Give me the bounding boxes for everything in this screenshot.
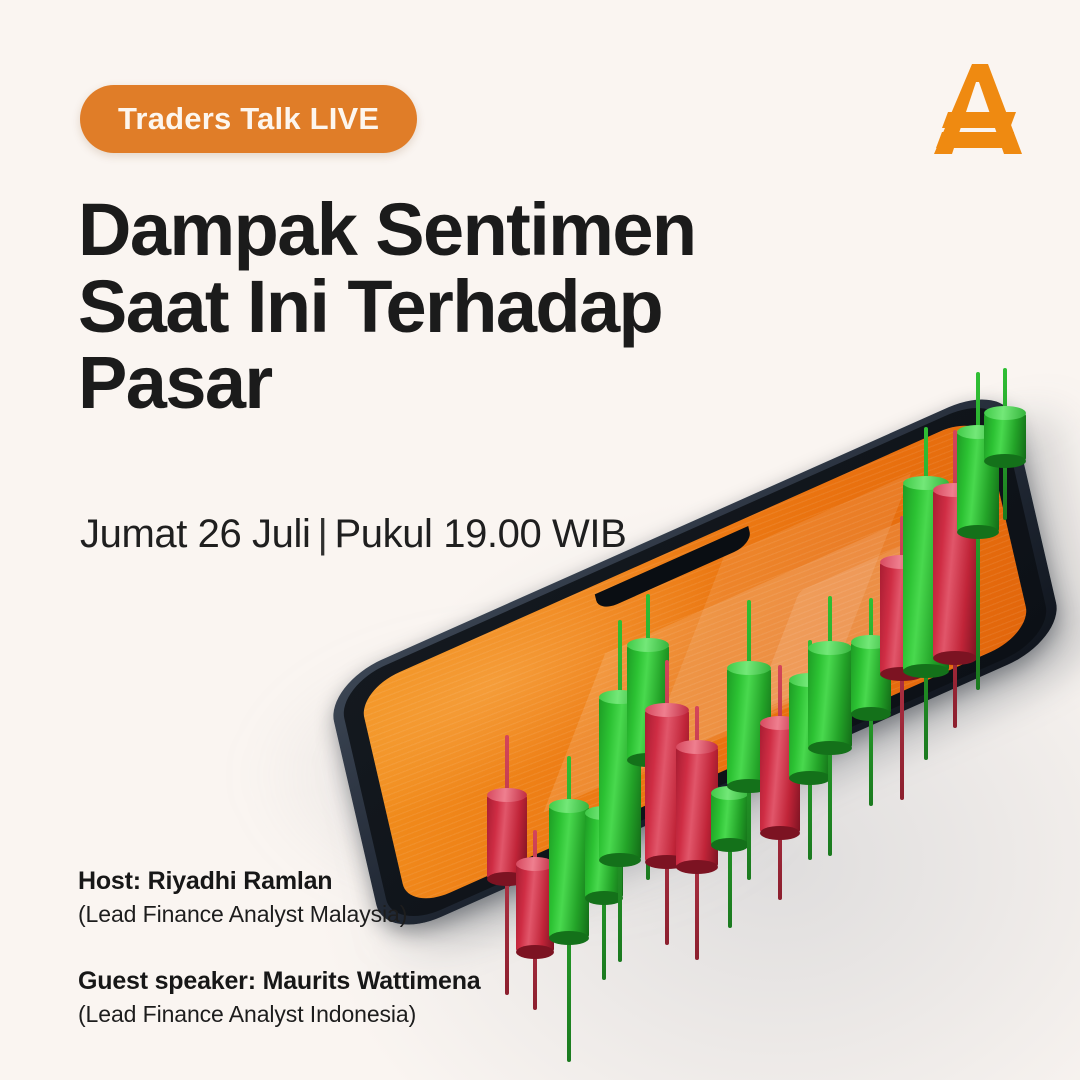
event-time: Pukul 19.00 WIB — [334, 512, 626, 556]
headline-line-1: Dampak Sentimen — [78, 192, 798, 269]
speaker-host-name: Host: Riyadhi Ramlan — [78, 866, 598, 897]
phone-body — [325, 382, 1064, 942]
event-datetime: Jumat 26 Juli|Pukul 19.00 WIB — [80, 512, 626, 557]
poster-canvas: Traders Talk LIVE Dampak Sentimen Saat I… — [0, 0, 1080, 1080]
headline-line-3: Pasar — [78, 345, 798, 422]
speakers-block: Host: Riyadhi Ramlan (Lead Finance Analy… — [78, 866, 598, 1029]
phone-bezel — [337, 393, 1053, 931]
live-badge-label: Traders Talk LIVE — [118, 101, 379, 137]
speaker-host-role: (Lead Finance Analyst Malaysia) — [78, 900, 598, 929]
speaker-guest: Guest speaker: Maurits Wattimena (Lead F… — [78, 966, 598, 1028]
ajaib-a-logo — [932, 58, 1028, 162]
page-title: Dampak Sentimen Saat Ini Terhadap Pasar — [78, 192, 798, 422]
event-date: Jumat 26 Juli — [80, 512, 310, 556]
datetime-separator: | — [310, 512, 334, 556]
live-badge[interactable]: Traders Talk LIVE — [80, 85, 417, 153]
speaker-guest-name: Guest speaker: Maurits Wattimena — [78, 966, 598, 997]
speaker-host: Host: Riyadhi Ramlan (Lead Finance Analy… — [78, 866, 598, 928]
speaker-guest-role: (Lead Finance Analyst Indonesia) — [78, 1000, 598, 1029]
headline-line-2: Saat Ini Terhadap — [78, 269, 798, 346]
